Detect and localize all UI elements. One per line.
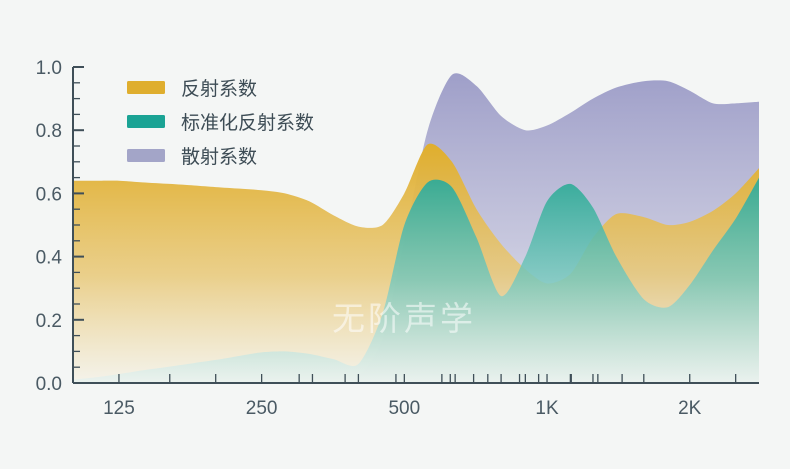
legend-label[interactable]: 散射系数	[181, 146, 257, 168]
watermark: 无阶声学	[332, 300, 476, 337]
y-tick-label: 0.0	[36, 374, 62, 395]
area-chart: 无阶声学 0.00.20.40.60.81.0 1252505001K2K 反射…	[0, 0, 790, 469]
y-tick-label: 0.2	[36, 311, 62, 332]
x-tick-label: 1K	[535, 398, 559, 419]
y-tick-label: 0.4	[36, 248, 63, 269]
y-tick-label: 0.8	[36, 121, 62, 142]
x-tick-label: 2K	[678, 398, 702, 419]
legend-swatch[interactable]	[127, 115, 165, 128]
chart-container: QRD-D2 扩散体系数 无阶声	[0, 0, 790, 469]
y-tick-label: 0.6	[36, 184, 62, 205]
watermark-label: 无阶声学	[332, 300, 476, 337]
y-tick-label: 1.0	[36, 58, 62, 79]
legend-label[interactable]: 标准化反射系数	[181, 112, 314, 134]
x-tick-label: 125	[103, 398, 135, 419]
x-tick-label: 250	[246, 398, 278, 419]
legend-label[interactable]: 反射系数	[181, 78, 257, 100]
x-tick-label: 500	[388, 398, 420, 419]
legend-swatch[interactable]	[127, 149, 165, 162]
legend-swatch[interactable]	[127, 81, 165, 94]
